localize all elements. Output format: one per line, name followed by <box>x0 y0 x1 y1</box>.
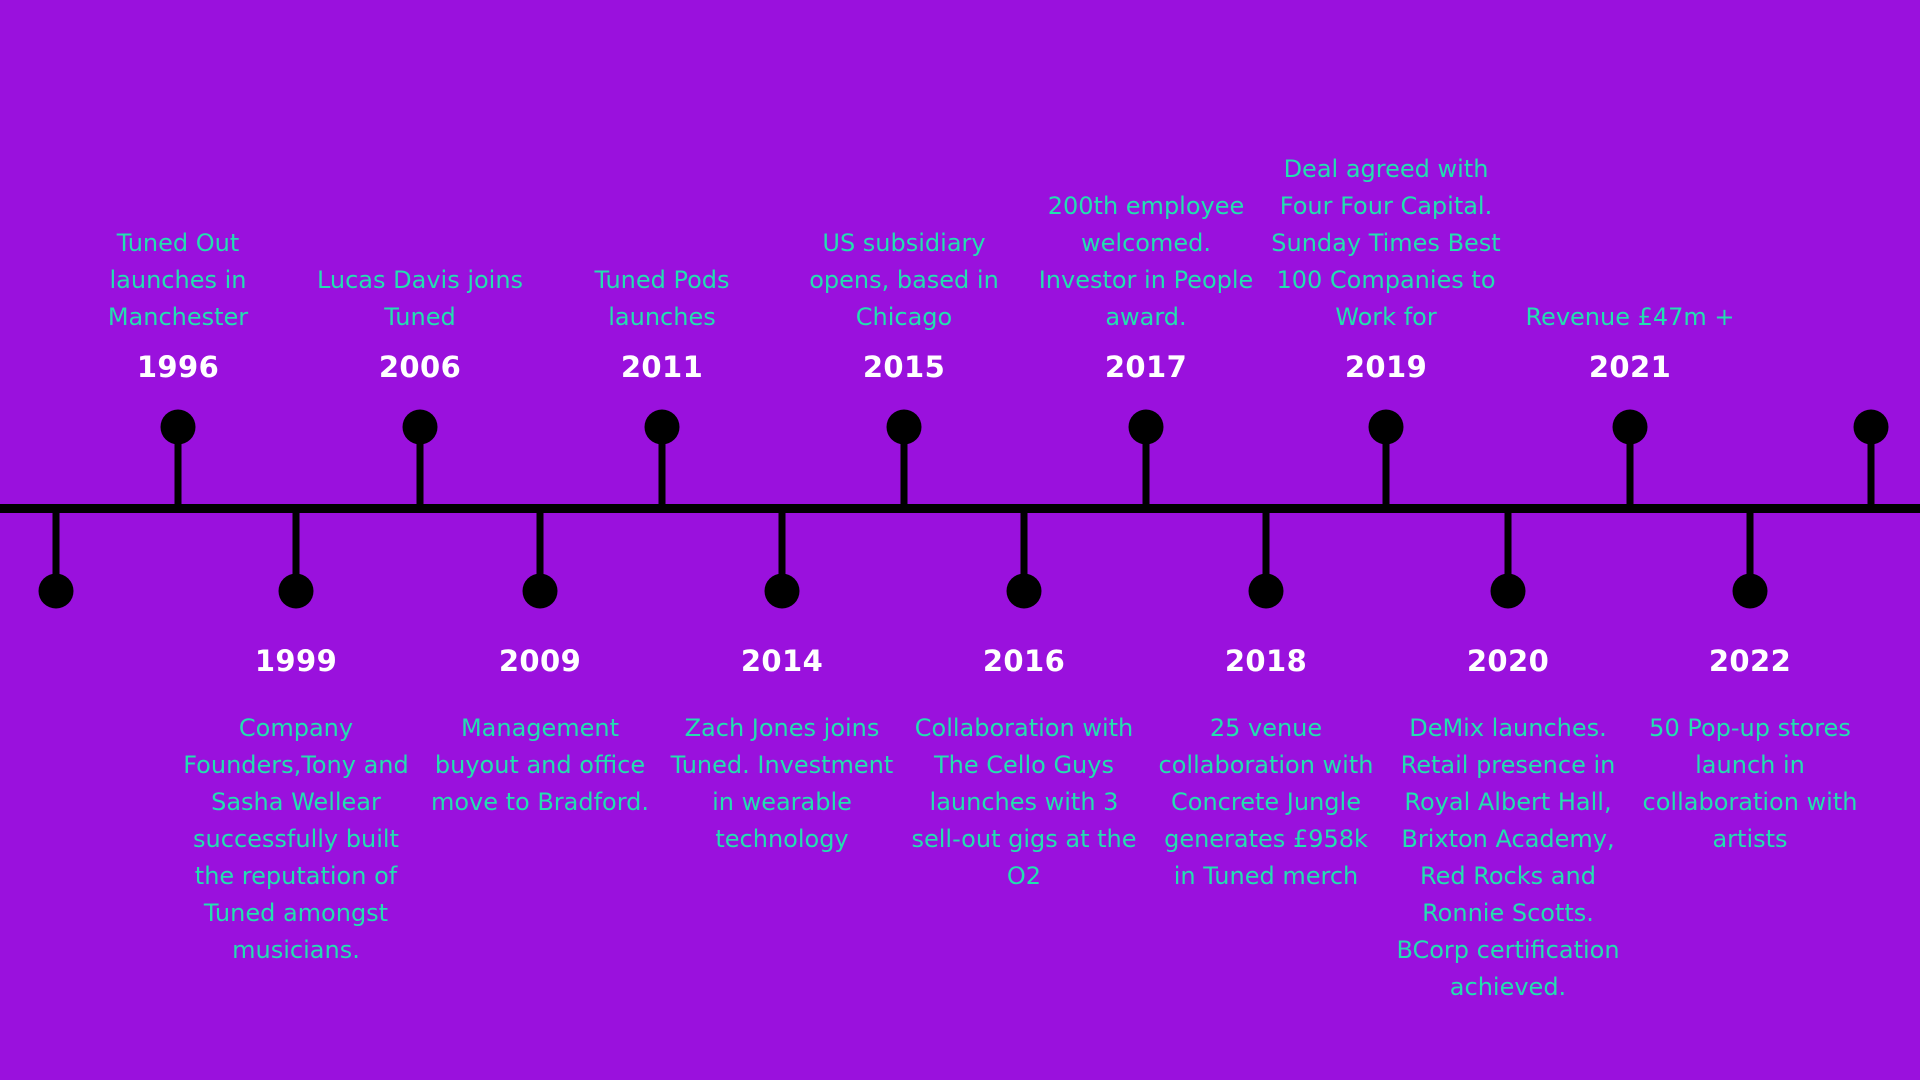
year-label-2019: 2019 <box>1345 350 1427 384</box>
event-description-2014: Zach Jones joins Tuned. Investment in we… <box>667 710 897 858</box>
year-label-2022: 2022 <box>1709 644 1791 678</box>
event-description-2016: Collaboration with The Cello Guys launch… <box>909 710 1139 895</box>
timeline-node-2016[interactable] <box>1007 574 1042 609</box>
event-description-2021: Revenue £47m + <box>1515 299 1745 336</box>
event-description-2017: 200th employee welcomed. Investor in Peo… <box>1031 188 1261 336</box>
event-description-2019: Deal agreed with Four Four Capital. Sund… <box>1271 151 1501 336</box>
year-label-2016: 2016 <box>983 644 1065 678</box>
event-description-2015: US subsidiary opens, based in Chicago <box>789 225 1019 336</box>
event-description-2018: 25 venue collaboration with Concrete Jun… <box>1151 710 1381 895</box>
year-label-2011: 2011 <box>621 350 703 384</box>
timeline-node-2006[interactable] <box>403 410 438 445</box>
year-label-2009: 2009 <box>499 644 581 678</box>
timeline-node-2018[interactable] <box>1249 574 1284 609</box>
year-label-2014: 2014 <box>741 644 823 678</box>
event-description-1996: Tuned Out launches in Manchester <box>63 225 293 336</box>
event-description-2022: 50 Pop-up stores launch in collaboration… <box>1635 710 1865 858</box>
timeline-node-2015[interactable] <box>887 410 922 445</box>
timeline-node-1996[interactable] <box>161 410 196 445</box>
timeline-node-2017[interactable] <box>1129 410 1164 445</box>
year-label-2017: 2017 <box>1105 350 1187 384</box>
year-label-2021: 2021 <box>1589 350 1671 384</box>
timeline-node-2011[interactable] <box>645 410 680 445</box>
timeline-infographic: 1996Tuned Out launches in Manchester1999… <box>0 0 1920 1080</box>
event-description-2020: DeMix launches. Retail presence in Royal… <box>1393 710 1623 1006</box>
year-label-1999: 1999 <box>255 644 337 678</box>
timeline-node-endpoint-1[interactable] <box>1854 410 1889 445</box>
timeline-node-2022[interactable] <box>1733 574 1768 609</box>
timeline-node-2021[interactable] <box>1613 410 1648 445</box>
event-description-2006: Lucas Davis joins Tuned <box>305 262 535 336</box>
timeline-node-endpoint-0[interactable] <box>39 574 74 609</box>
timeline-node-2020[interactable] <box>1491 574 1526 609</box>
timeline-node-2009[interactable] <box>523 574 558 609</box>
timeline-node-2014[interactable] <box>765 574 800 609</box>
year-label-2006: 2006 <box>379 350 461 384</box>
year-label-2015: 2015 <box>863 350 945 384</box>
event-description-2011: Tuned Pods launches <box>547 262 777 336</box>
event-description-2009: Management buyout and office move to Bra… <box>425 710 655 821</box>
timeline-node-2019[interactable] <box>1369 410 1404 445</box>
event-description-1999: Company Founders,Tony and Sasha Wellear … <box>181 710 411 969</box>
year-label-2020: 2020 <box>1467 644 1549 678</box>
year-label-2018: 2018 <box>1225 644 1307 678</box>
timeline-node-1999[interactable] <box>279 574 314 609</box>
year-label-1996: 1996 <box>137 350 219 384</box>
